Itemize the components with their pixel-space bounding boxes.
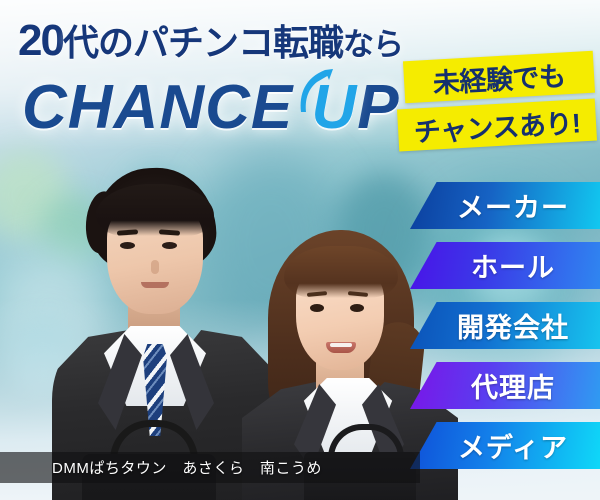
headline-kicker: 20代のパチンコ転職なら — [18, 14, 403, 66]
male-fringe — [96, 184, 214, 236]
wordmark-u-accent: U — [311, 72, 357, 143]
wordmark-p: P — [357, 73, 399, 142]
male-eye — [120, 242, 135, 249]
category-button-developer[interactable]: 開発会社 — [410, 302, 600, 349]
category-button-agency[interactable]: 代理店 — [410, 362, 600, 409]
wordmark-chance: CHANCE — [22, 73, 311, 142]
category-button-developer-label: 開発会社 — [441, 306, 569, 345]
person-male — [58, 168, 268, 500]
male-eye — [162, 242, 177, 249]
promo-banner: 20代のパチンコ転職なら CHANCE UP 未経験でも チャンスあり! メーカ… — [0, 0, 600, 500]
category-button-media-label: メディア — [442, 426, 568, 465]
female-mouth — [326, 342, 356, 353]
badge-no-experience-label: 未経験でも — [432, 54, 566, 100]
male-nose — [151, 260, 159, 274]
male-mouth — [141, 282, 169, 288]
category-button-maker[interactable]: メーカー — [410, 182, 600, 229]
headline-kicker-tail: なら — [343, 27, 403, 62]
caption-text: DMMぱちタウン あさくら 南こうめ — [0, 457, 322, 478]
category-button-agency-label: 代理店 — [455, 366, 555, 405]
female-fringe — [284, 246, 398, 298]
headline-kicker-number: 20 — [18, 16, 63, 65]
headline-kicker-main: 代のパチンコ転職 — [63, 22, 343, 63]
female-eye — [350, 304, 364, 312]
category-button-media[interactable]: メディア — [410, 422, 600, 469]
wordmark-chance-up: CHANCE UP — [22, 72, 400, 143]
category-button-maker-label: メーカー — [441, 186, 569, 225]
female-eye — [310, 304, 324, 312]
category-button-hall-label: ホール — [455, 246, 555, 285]
category-button-hall[interactable]: ホール — [410, 242, 600, 289]
caption-band: DMMぱちタウン あさくら 南こうめ — [0, 452, 420, 483]
badge-chance-available-label: チャンスあり! — [413, 101, 582, 149]
